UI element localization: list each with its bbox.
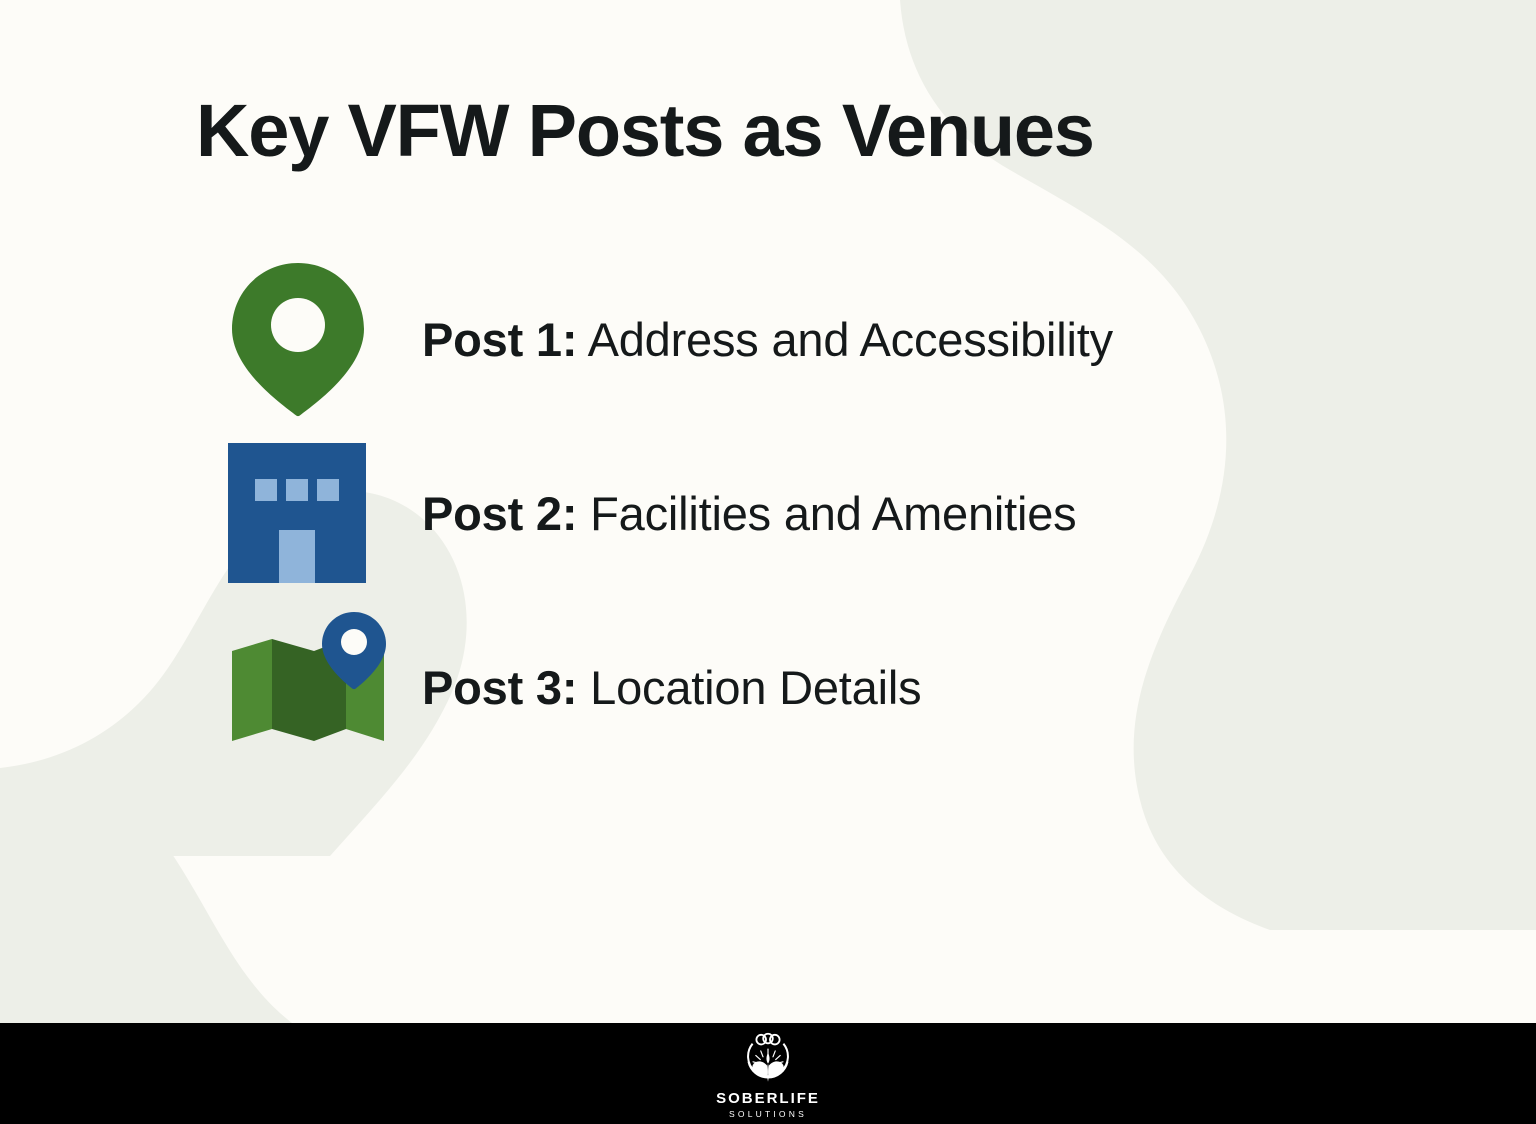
- list-item-label-lead: Post 3:: [422, 661, 577, 714]
- list-item-label-rest: Address and Accessibility: [577, 313, 1113, 366]
- brand-logo[interactable]: SOBERLIFE SOLUTIONS: [716, 1029, 820, 1119]
- map-pin-icon: [228, 254, 388, 424]
- building-icon: [228, 428, 388, 598]
- folded-map-with-pin-icon: [228, 602, 388, 772]
- brand-subtitle: SOLUTIONS: [729, 1110, 807, 1119]
- brand-name: SOBERLIFE: [716, 1091, 820, 1106]
- list-item-label-rest: Location Details: [577, 661, 921, 714]
- list-item[interactable]: Post 3: Location Details: [228, 600, 1408, 774]
- list-item-label: Post 1: Address and Accessibility: [422, 312, 1113, 367]
- list-item-label-lead: Post 2:: [422, 487, 577, 540]
- slide-canvas: Key VFW Posts as Venues Post 1: Address …: [0, 0, 1536, 1124]
- soberlife-emblem-icon: [739, 1031, 797, 1089]
- list-item-label-lead: Post 1:: [422, 313, 577, 366]
- bullet-list: Post 1: Address and Accessibility Post 2…: [228, 252, 1408, 774]
- list-item-label-rest: Facilities and Amenities: [577, 487, 1076, 540]
- list-item-label: Post 2: Facilities and Amenities: [422, 486, 1076, 541]
- footer-bar: SOBERLIFE SOLUTIONS: [0, 1023, 1536, 1124]
- slide-content: Key VFW Posts as Venues Post 1: Address …: [0, 0, 1536, 1124]
- list-item[interactable]: Post 1: Address and Accessibility: [228, 252, 1408, 426]
- list-item-label: Post 3: Location Details: [422, 660, 921, 715]
- page-title: Key VFW Posts as Venues: [196, 88, 1094, 173]
- list-item[interactable]: Post 2: Facilities and Amenities: [228, 426, 1408, 600]
